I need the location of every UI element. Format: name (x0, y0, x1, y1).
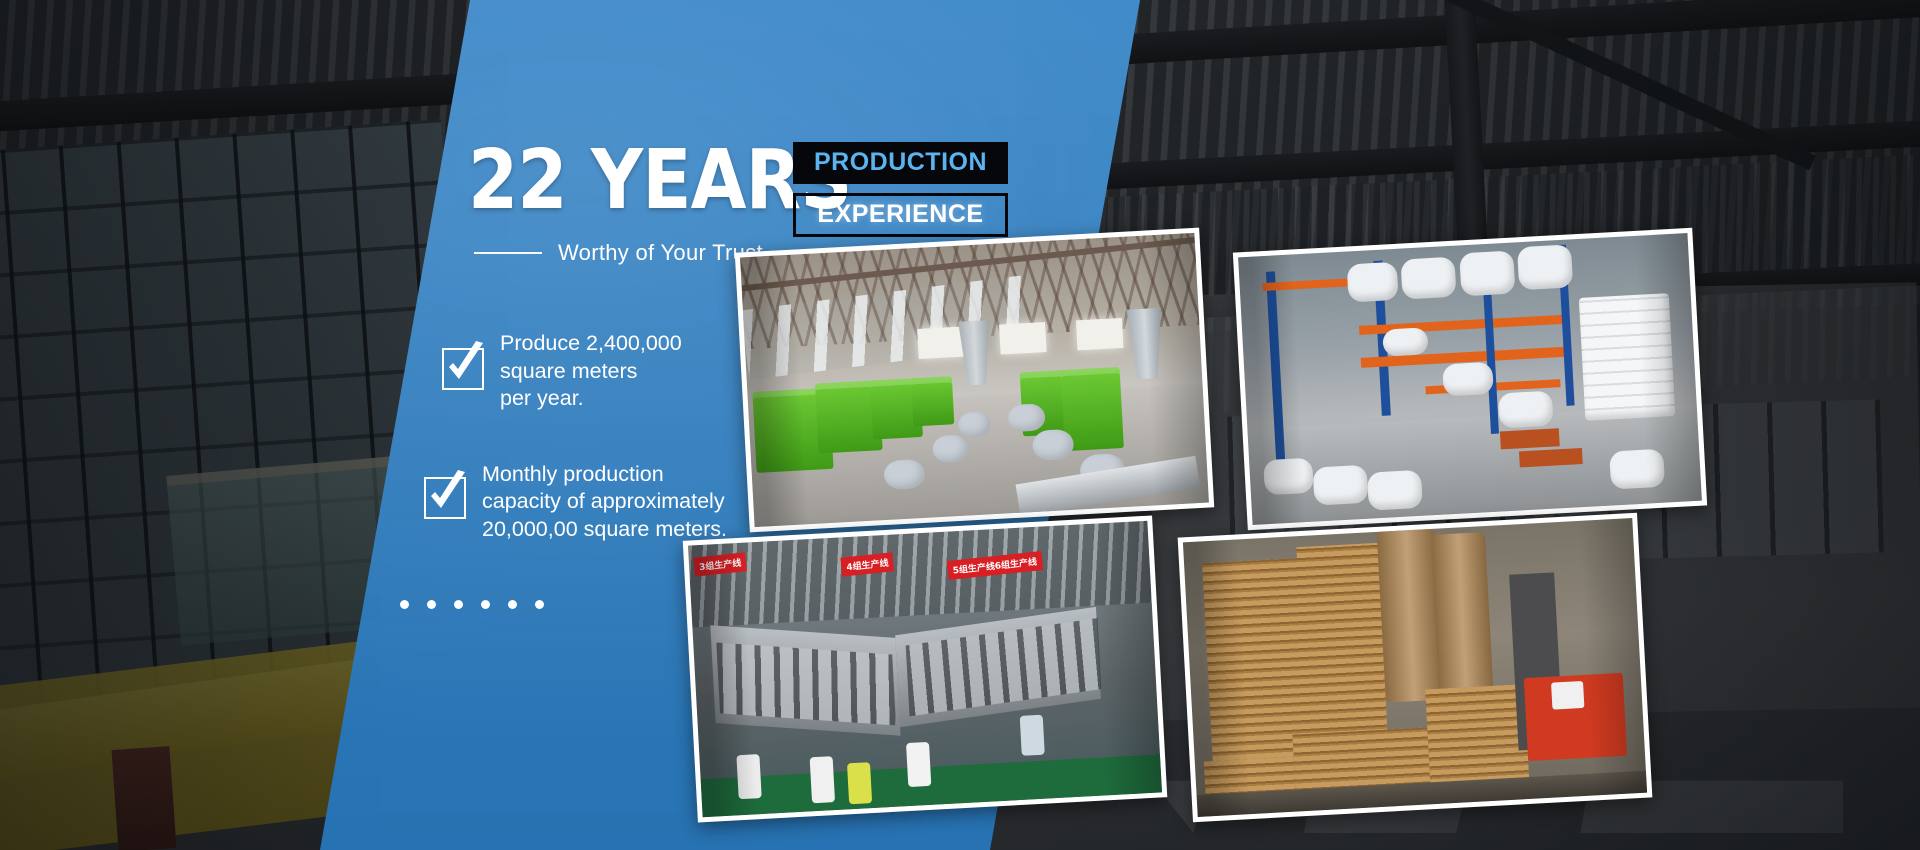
photo-4-paper-roll (1430, 532, 1493, 694)
photo-2-pallet (1500, 428, 1559, 450)
photo-1-window (999, 322, 1047, 354)
photo-injection-molding-hall (735, 228, 1214, 533)
photo-2-sack (1382, 328, 1428, 357)
photo-2-sack (1400, 256, 1456, 299)
photo-collage: 3组生产线 4组生产线 5组生产线6组生产线 (0, 0, 1920, 850)
photo-finished-goods-stacks (1178, 513, 1653, 822)
photo-3-spindles (716, 642, 896, 725)
photo-2-sack (1459, 251, 1515, 297)
photo-3-worker (906, 742, 931, 787)
photo-2-sack (1313, 465, 1369, 505)
banner-stage: 22 YEARS PRODUCTION EXPERIENCE Worthy of… (0, 0, 1920, 850)
photo-production-lines: 3组生产线 4组生产线 5组生产线6组生产线 (683, 515, 1168, 822)
photo-2-scene (1238, 233, 1702, 525)
photo-2-palletized-bags (1578, 293, 1675, 421)
photo-4-carton-stack (1296, 543, 1388, 756)
photo-1-machine (911, 376, 955, 427)
photo-3-worker (1020, 714, 1045, 756)
photo-1-scene (740, 233, 1209, 527)
photo-4-forklift-driver (1551, 680, 1584, 709)
photo-2-sack (1498, 391, 1554, 429)
photo-3-scene: 3组生产线 4组生产线 5组生产线6组生产线 (688, 521, 1162, 817)
photo-raw-material-warehouse (1233, 228, 1707, 530)
photo-2-sack (1517, 245, 1573, 291)
photo-1-window (1076, 318, 1124, 350)
photo-2-pallet (1519, 448, 1583, 467)
photo-3-worker (810, 756, 835, 803)
photo-2-sack (1442, 362, 1493, 397)
photo-4-scene (1183, 518, 1647, 817)
photo-2-sack (1347, 262, 1398, 302)
photo-3-worker (847, 762, 872, 804)
photo-1-window (917, 327, 965, 359)
photo-2-sack (1609, 449, 1665, 489)
photo-3-conveyor-floor (701, 754, 1162, 817)
photo-3-worker (736, 754, 761, 799)
photo-2-sack (1263, 457, 1314, 494)
photo-4-carton-stack (1202, 558, 1312, 761)
photo-2-sack (1367, 470, 1423, 510)
